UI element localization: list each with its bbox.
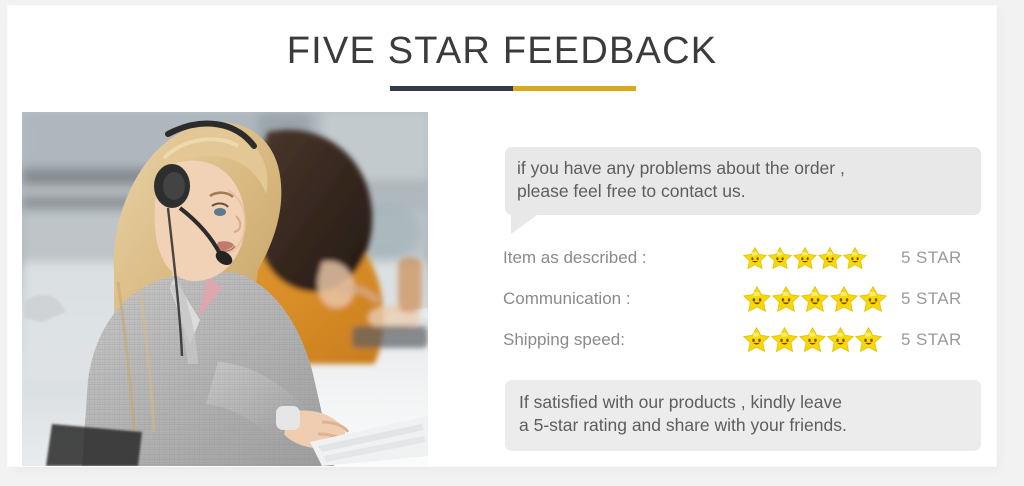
star-icon <box>859 285 887 313</box>
title-underline-gold-segment <box>513 86 636 91</box>
rating-value: 5 STAR <box>901 330 962 350</box>
satisfaction-note-box: If satisfied with our products , kindly … <box>505 380 981 451</box>
wrist-watch <box>276 406 300 430</box>
star-icon <box>768 246 792 270</box>
contact-speech-bubble: if you have any problems about the order… <box>505 147 981 215</box>
star-icon <box>743 326 770 353</box>
rating-list: Item as described : 5 STAR Communication… <box>503 237 989 360</box>
star-icon <box>799 326 826 353</box>
star-icon <box>793 246 817 270</box>
satisfaction-note-line-1: If satisfied with our products , kindly … <box>519 391 967 414</box>
speech-bubble-tail <box>511 212 541 234</box>
rating-value: 5 STAR <box>901 289 962 309</box>
star-rating <box>743 246 895 270</box>
rating-row: Shipping speed: 5 STAR <box>503 319 989 360</box>
star-rating <box>743 326 895 353</box>
rating-value: 5 STAR <box>901 248 962 268</box>
satisfaction-note-line-2: a 5-star rating and share with your frie… <box>519 414 967 437</box>
star-icon <box>855 326 882 353</box>
star-rating <box>743 285 895 313</box>
feedback-content: if you have any problems about the order… <box>497 112 989 466</box>
star-icon <box>801 285 829 313</box>
call-center-photo <box>22 112 428 466</box>
call-center-photo-illustration <box>22 112 428 466</box>
feedback-card: FIVE STAR FEEDBACK <box>8 6 996 466</box>
star-icon <box>830 285 858 313</box>
rating-label: Item as described : <box>503 248 743 268</box>
star-icon <box>843 246 867 270</box>
page-title-block: FIVE STAR FEEDBACK <box>8 32 996 70</box>
rating-label: Shipping speed: <box>503 330 743 350</box>
title-underline <box>390 86 636 91</box>
star-icon <box>772 285 800 313</box>
rating-label: Communication : <box>503 289 743 309</box>
star-icon <box>771 326 798 353</box>
contact-bubble-line-2: please feel free to contact us. <box>517 180 969 203</box>
rating-row: Item as described : 5 STAR <box>503 237 989 278</box>
page-title: FIVE STAR FEEDBACK <box>8 32 996 70</box>
star-icon <box>827 326 854 353</box>
contact-bubble-line-1: if you have any problems about the order… <box>517 157 969 180</box>
title-underline-dark-segment <box>390 86 513 91</box>
star-icon <box>818 246 842 270</box>
rating-row: Communication : 5 STAR <box>503 278 989 319</box>
page-root: FIVE STAR FEEDBACK <box>0 0 1024 486</box>
star-icon <box>743 246 767 270</box>
star-icon <box>743 285 771 313</box>
